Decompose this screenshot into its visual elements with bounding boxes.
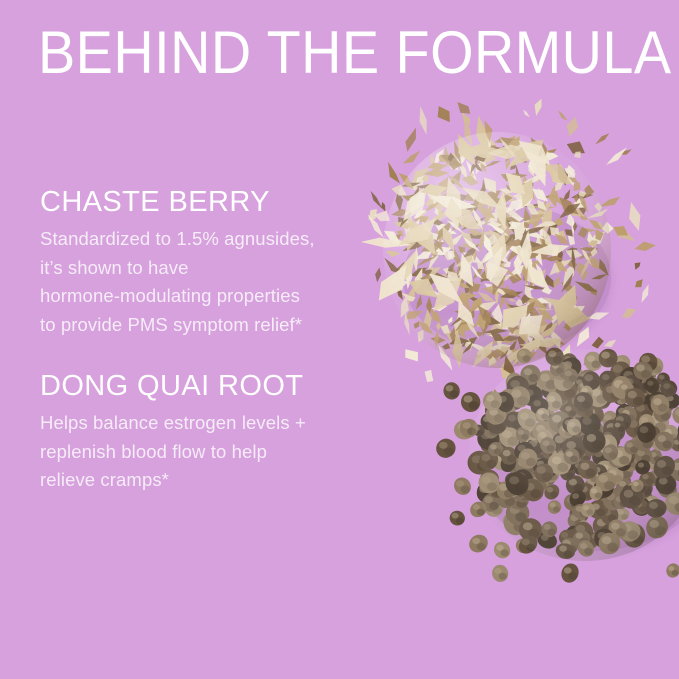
- description-line: Helps balance estrogen levels +: [40, 409, 370, 438]
- ingredient-description-dong-quai-root: Helps balance estrogen levels +replenish…: [40, 409, 370, 495]
- description-line: replenish blood flow to help: [40, 438, 370, 467]
- ingredient-name-chaste-berry: CHASTE BERRY: [40, 186, 370, 218]
- ingredient-description-chaste-berry: Standardized to 1.5% agnusides,it’s show…: [40, 225, 370, 339]
- product-ingredient-panel: BEHIND THE FORMULA CHASTE BERRY Standard…: [0, 0, 679, 679]
- description-line: hormone-modulating properties: [40, 282, 370, 311]
- ingredient-block-chaste-berry: CHASTE BERRY Standardized to 1.5% agnusi…: [40, 186, 370, 339]
- description-line: it’s shown to have: [40, 254, 370, 283]
- description-line: to provide PMS symptom relief*: [40, 311, 370, 340]
- description-line: Standardized to 1.5% agnusides,: [40, 225, 370, 254]
- description-line: relieve cramps*: [40, 466, 370, 495]
- page-title: BEHIND THE FORMULA: [38, 22, 672, 84]
- text-layer: BEHIND THE FORMULA CHASTE BERRY Standard…: [0, 0, 679, 679]
- ingredient-block-dong-quai-root: DONG QUAI ROOT Helps balance estrogen le…: [40, 370, 370, 495]
- ingredient-name-dong-quai-root: DONG QUAI ROOT: [40, 370, 370, 402]
